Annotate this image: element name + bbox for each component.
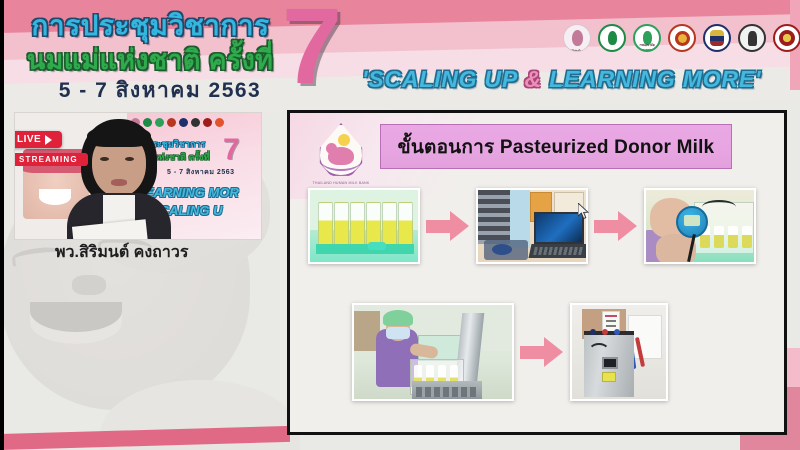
sponsor-logo-row: มูลนิธิศูนย์นมแม่แห่งประเทศไทย กรมอนามัย… xyxy=(563,24,800,52)
department-health-logo: กรมอนามัย กระทรวงสาธารณสุข xyxy=(633,24,661,52)
conference-date: 5 - 7 สิงหาคม 2563 xyxy=(50,74,270,107)
play-icon xyxy=(45,135,52,145)
royal-emblem-logo xyxy=(668,24,696,52)
milk-bottles-rack-photo xyxy=(308,188,420,264)
medical-council-logo xyxy=(773,24,800,52)
video-poster-date: 5 - 7 สิงหาคม 2563 xyxy=(167,167,235,178)
digital-thermometer-photo xyxy=(644,188,756,264)
streaming-label: STREAMING xyxy=(14,153,88,166)
video-poster-number: 7 xyxy=(223,135,240,165)
slide-title: ขั้นตอนการ Pasteurized Donor Milk xyxy=(398,132,715,162)
conference-title-block: การประชุมวิชาการ นมแม่แห่งชาติ ครั้งที่ … xyxy=(0,0,300,108)
conference-edition-number: 7 xyxy=(282,0,342,100)
tagline-part-after: LEARNING MORE' xyxy=(542,66,761,92)
tagline-part-before: 'SCALING UP xyxy=(362,66,524,92)
nursing-council-logo xyxy=(738,24,766,52)
process-flow-row-bottom xyxy=(352,303,668,401)
human-milk-bank-logo: THAILAND HUMAN MILK BANK xyxy=(310,121,372,185)
live-label: LIVE xyxy=(17,134,41,145)
logo-caption: กรมอนามัย กระทรวงสาธารณสุข xyxy=(635,43,659,52)
ministry-public-health-logo: กรมอนามัย xyxy=(598,24,626,52)
speaker-name: พว.สิริมนต์ คงถาวร xyxy=(55,240,188,265)
slide-stage: การประชุมวิชาการ นมแม่แห่งชาติ ครั้งที่ … xyxy=(0,0,800,450)
royal-college-logo xyxy=(703,24,731,52)
pasteurizer-machine-photo xyxy=(570,303,668,401)
video-speaker-figure xyxy=(67,117,171,240)
flow-arrow-3 xyxy=(520,337,564,367)
logo-caption: มูลนิธิศูนย์นมแม่แห่งประเทศไทย xyxy=(564,49,590,52)
nurse-loading-pasteurizer-photo xyxy=(352,303,514,401)
thai-breastfeeding-foundation-logo: มูลนิธิศูนย์นมแม่แห่งประเทศไทย xyxy=(563,24,591,52)
milk-bank-logo-caption: THAILAND HUMAN MILK BANK xyxy=(310,181,372,185)
conference-tagline: 'SCALING UP & LEARNING MORE' xyxy=(362,66,761,93)
mouse-cursor-icon xyxy=(578,203,590,220)
slide-title-banner: ขั้นตอนการ Pasteurized Donor Milk xyxy=(380,124,732,169)
live-video-thumbnail[interactable]: การประชุมวิชาการ นมแม่แห่งชาติ ครั้งที่ … xyxy=(14,112,262,240)
laptop-workstation-photo xyxy=(476,188,588,264)
flow-arrow-1 xyxy=(426,211,470,241)
presentation-slide-panel: THAILAND HUMAN MILK BANK ขั้นตอนการ Past… xyxy=(287,110,787,435)
flow-arrow-2 xyxy=(594,211,638,241)
live-badge: LIVE xyxy=(14,131,62,148)
tagline-ampersand: & xyxy=(524,66,541,92)
process-flow-row-top xyxy=(308,188,756,264)
